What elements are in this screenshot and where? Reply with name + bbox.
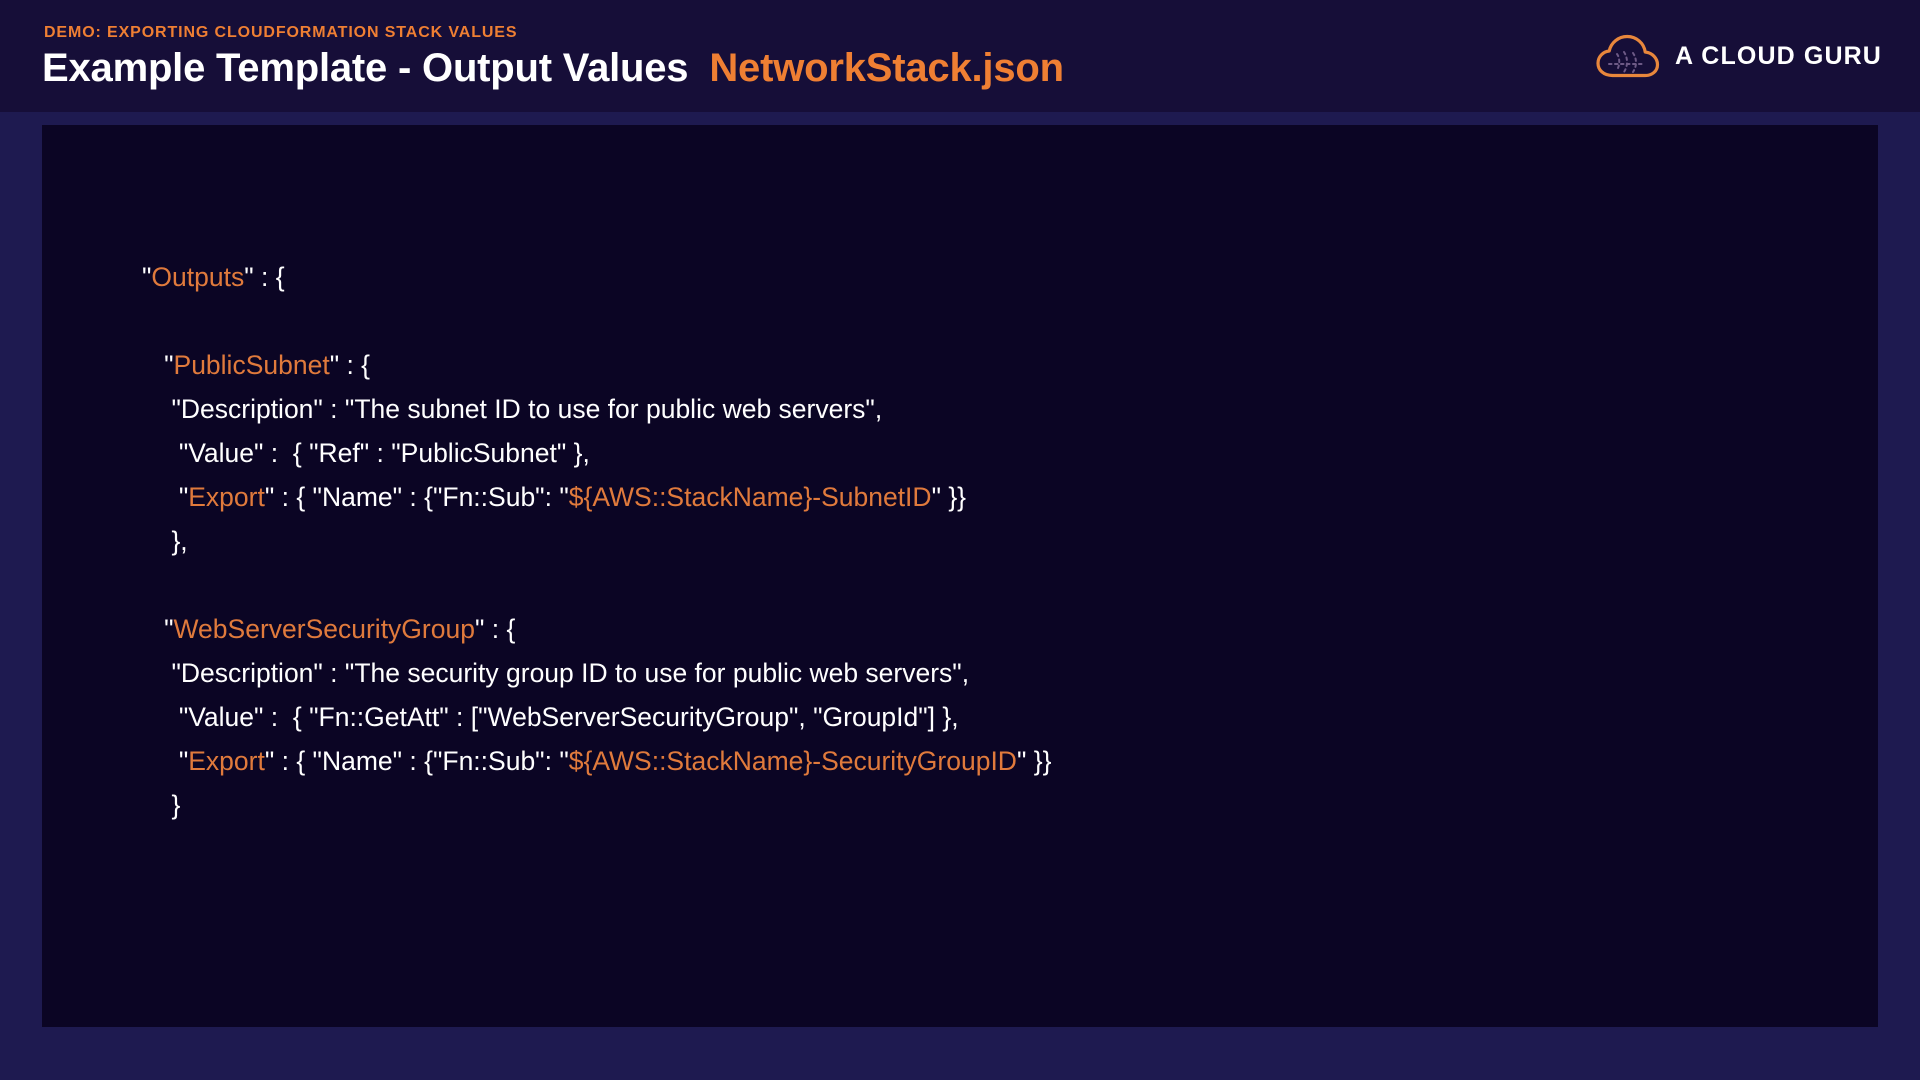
code-key-token: Export	[188, 482, 265, 512]
code-line: }	[142, 783, 1051, 827]
code-text-token: "Description" : "The security group ID t…	[164, 658, 969, 688]
code-key-token: Outputs	[151, 262, 244, 292]
brand-logo: A CLOUD GURU	[1595, 33, 1882, 79]
code-text-token: "Value" : { "Fn::GetAtt" : ["WebServerSe…	[164, 702, 959, 732]
code-key-token: Export	[188, 746, 265, 776]
slide-root: DEMO: EXPORTING CLOUDFORMATION STACK VAL…	[0, 0, 1920, 1080]
code-line	[142, 299, 1051, 343]
code-line: "WebServerSecurityGroup" : {	[142, 607, 1051, 651]
code-text-token: " : {	[330, 350, 370, 380]
code-line: "Outputs" : {	[142, 255, 1051, 299]
code-text-token: "	[164, 350, 173, 380]
code-text-token: " : { "Name" : {"Fn::Sub": "	[265, 746, 569, 776]
code-line: "PublicSubnet" : {	[142, 343, 1051, 387]
code-key-token: PublicSubnet	[174, 350, 330, 380]
code-line: },	[142, 519, 1051, 563]
page-title: Example Template - Output Values Network…	[42, 46, 1064, 91]
code-line: "Export" : { "Name" : {"Fn::Sub": "${AWS…	[142, 739, 1051, 783]
code-line: "Description" : "The security group ID t…	[142, 651, 1051, 695]
code-text-token: }	[164, 790, 180, 820]
code-line: "Description" : "The subnet ID to use fo…	[142, 387, 1051, 431]
code-key-token: ${AWS::StackName}-SubnetID	[569, 482, 932, 512]
slide-header: DEMO: EXPORTING CLOUDFORMATION STACK VAL…	[0, 0, 1920, 112]
code-line	[142, 563, 1051, 607]
code-text-token: "	[164, 614, 173, 644]
code-text-token: "	[164, 746, 188, 776]
code-block: "Outputs" : { "PublicSubnet" : { "Descri…	[142, 255, 1051, 827]
code-text-token: "	[164, 482, 188, 512]
code-text-token: " }}	[932, 482, 966, 512]
code-text-token: " : {	[244, 262, 284, 292]
code-text-token: " : { "Name" : {"Fn::Sub": "	[265, 482, 569, 512]
code-text-token: " }}	[1017, 746, 1051, 776]
code-text-token: " : {	[475, 614, 515, 644]
code-text-token: "	[142, 262, 151, 292]
code-line: "Value" : { "Fn::GetAtt" : ["WebServerSe…	[142, 695, 1051, 739]
code-text-token: "Value" : { "Ref" : "PublicSubnet" },	[164, 438, 590, 468]
code-line: "Value" : { "Ref" : "PublicSubnet" },	[142, 431, 1051, 475]
code-key-token: ${AWS::StackName}-SecurityGroupID	[569, 746, 1017, 776]
page-title-main: Example Template - Output Values	[42, 46, 688, 91]
code-key-token: WebServerSecurityGroup	[174, 614, 475, 644]
eyebrow-label: DEMO: EXPORTING CLOUDFORMATION STACK VAL…	[44, 24, 517, 42]
code-text-token: "Description" : "The subnet ID to use fo…	[164, 394, 882, 424]
code-line: "Export" : { "Name" : {"Fn::Sub": "${AWS…	[142, 475, 1051, 519]
code-text-token: },	[164, 526, 188, 556]
cloud-icon	[1595, 34, 1661, 78]
brand-logo-text: A CLOUD GURU	[1675, 42, 1882, 71]
page-title-filename: NetworkStack.json	[709, 46, 1064, 91]
code-panel: "Outputs" : { "PublicSubnet" : { "Descri…	[42, 125, 1878, 1027]
